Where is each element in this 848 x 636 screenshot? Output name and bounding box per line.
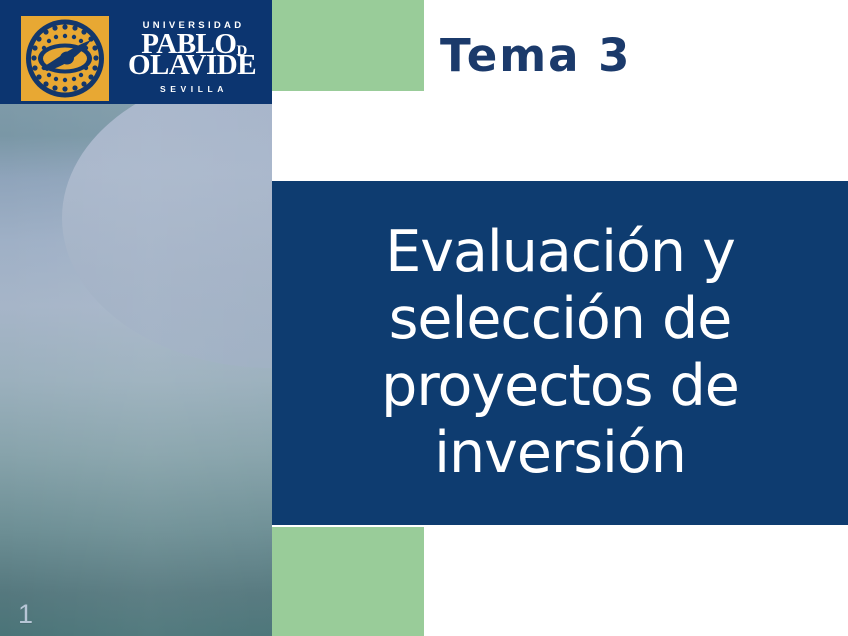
slide-sidebar-panel [0, 104, 272, 636]
pablo-olavide-eye-emblem-icon [21, 16, 109, 101]
university-wordmark: UNIVERSIDAD PABLOD OLAVIDE SEVILLA [119, 19, 265, 102]
slide-number: 1 [18, 601, 33, 628]
topic-label: Tema 3 [440, 31, 820, 81]
green-accent-block-bottom [272, 527, 424, 636]
sidebar-ellipse-decoration [62, 104, 272, 368]
slide-title-box: Evaluación y selección de proyectos de i… [272, 181, 848, 525]
wordmark-sevilla: SEVILLA [119, 83, 265, 95]
wordmark-name: PABLOD OLAVIDE [119, 33, 265, 78]
green-accent-block-top [272, 0, 424, 91]
page-title: Evaluación y selección de proyectos de i… [272, 219, 848, 488]
logo-header-bar: UNIVERSIDAD PABLOD OLAVIDE SEVILLA [0, 0, 272, 104]
presentation-slide: 1 [0, 0, 848, 636]
